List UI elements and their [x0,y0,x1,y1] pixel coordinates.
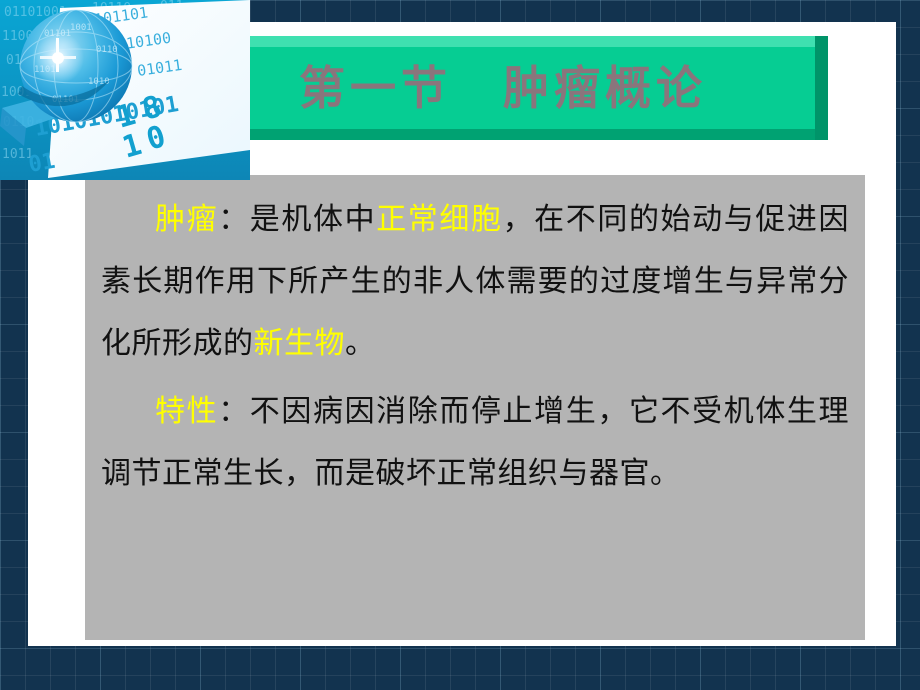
svg-text:1010: 1010 [88,77,110,87]
svg-text:01: 01 [27,149,57,178]
paragraph-characteristics: 特性：不因病因消除而停止增生，它不受机体生理调节正常生长，而是破坏正常组织与器官… [101,381,849,505]
paragraph-definition: 肿瘤：是机体中正常细胞，在不同的始动与促进因素长期作用下所产生的非人体需要的过度… [101,189,849,375]
definition-period: 。 [345,326,376,361]
term-tumor: 肿瘤 [155,202,218,237]
term-normal-cell: 正常细胞 [376,202,502,237]
banner-bevel-right [815,36,828,140]
svg-text:1001: 1001 [70,23,92,33]
content-box: 肿瘤：是机体中正常细胞，在不同的始动与促进因素长期作用下所产生的非人体需要的过度… [85,175,865,640]
globe-binary-artwork: 01101001 110010 0101 1001 0110 1011 1011… [0,0,250,180]
banner-bevel-top [178,36,828,47]
definition-part-1: ：是机体中 [218,202,376,237]
presentation-slide: 01101001 110010 0101 1001 0110 1011 1011… [0,0,920,690]
svg-text:0110: 0110 [96,45,118,55]
term-characteristics: 特性 [155,394,218,429]
slide-title: 第一节 肿瘤概论 [299,65,707,111]
title-banner: 第一节 肿瘤概论 [178,36,828,140]
banner-bevel-bottom [178,129,828,140]
banner-face: 第一节 肿瘤概论 [191,47,815,129]
term-neoplasm: 新生物 [254,326,346,361]
globe-icon: 01101001 110010 0101 1001 0110 1011 1011… [0,0,250,180]
